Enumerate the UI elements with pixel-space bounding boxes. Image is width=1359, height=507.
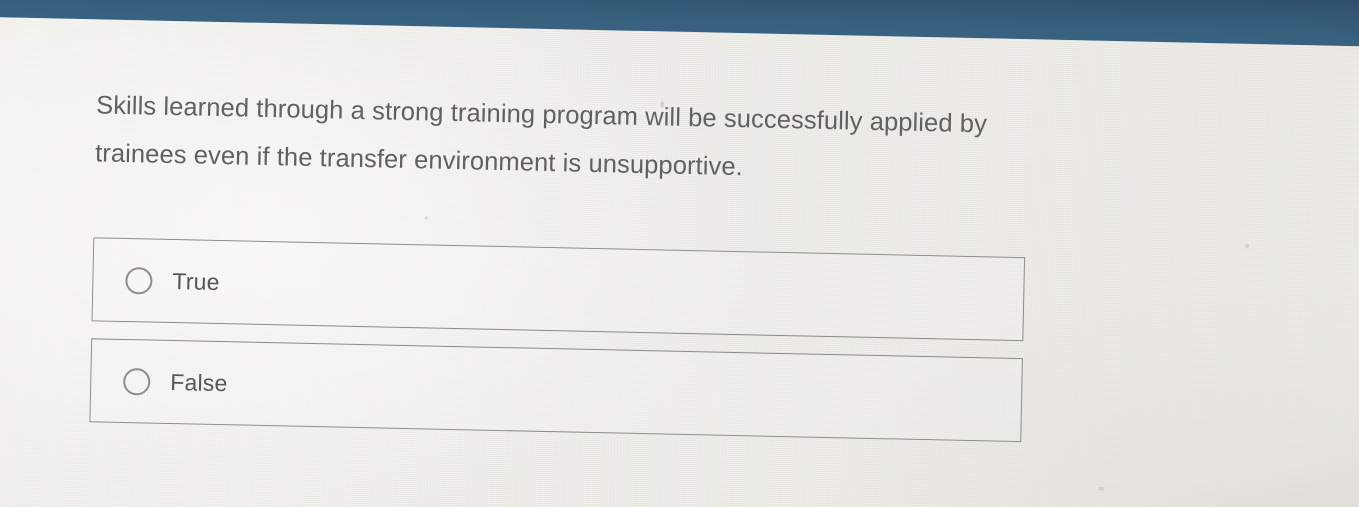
radio-unchecked-icon[interactable] <box>125 267 153 295</box>
question-prompt: Skills learned through a strong training… <box>95 81 1057 197</box>
answer-option-label: False <box>170 370 228 394</box>
dust-speck <box>1245 244 1249 248</box>
answer-option-label: True <box>172 270 220 294</box>
answer-options-list: True False <box>89 237 1093 443</box>
answer-option-false[interactable]: False <box>89 338 1023 442</box>
dust-speck <box>1098 487 1104 491</box>
answer-option-true[interactable]: True <box>92 237 1026 341</box>
radio-unchecked-icon[interactable] <box>123 367 151 395</box>
photographed-screen: Skills learned through a strong training… <box>0 0 1359 507</box>
quiz-page-surface: Skills learned through a strong training… <box>0 16 1359 507</box>
dust-speck <box>425 216 428 219</box>
quiz-content: Skills learned through a strong training… <box>89 81 1096 460</box>
